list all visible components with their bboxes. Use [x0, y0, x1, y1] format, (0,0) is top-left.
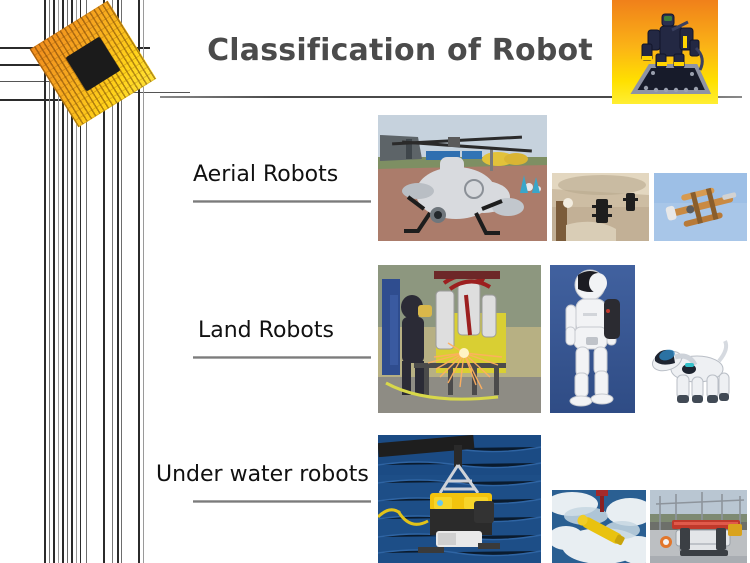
seabed-crawler-photo	[650, 490, 747, 563]
page-title: Classification of Robot	[190, 33, 610, 68]
robot-dog-photo	[645, 335, 740, 413]
humanoid-robot-photo	[550, 265, 635, 413]
indoor-micro-aerial-vehicle-photo	[552, 173, 649, 241]
row-underline-land	[193, 356, 371, 359]
fixed-wing-uav-photo	[654, 173, 747, 241]
row-label-aerial: Aerial Robots	[193, 162, 338, 187]
row-underline-underwater	[193, 500, 371, 503]
industrial-welding-robot-photo	[378, 265, 541, 413]
slide-canvas: Classification of Robot	[0, 0, 750, 563]
row-label-land: Land Robots	[198, 318, 334, 343]
row-label-underwater: Under water robots	[156, 462, 369, 487]
auv-torpedo-photo	[552, 490, 646, 563]
rov-submersible-photo	[378, 435, 541, 563]
tracked-robot-logo	[612, 0, 718, 104]
row-underline-aerial	[193, 200, 371, 203]
unmanned-helicopter-photo	[378, 115, 547, 241]
